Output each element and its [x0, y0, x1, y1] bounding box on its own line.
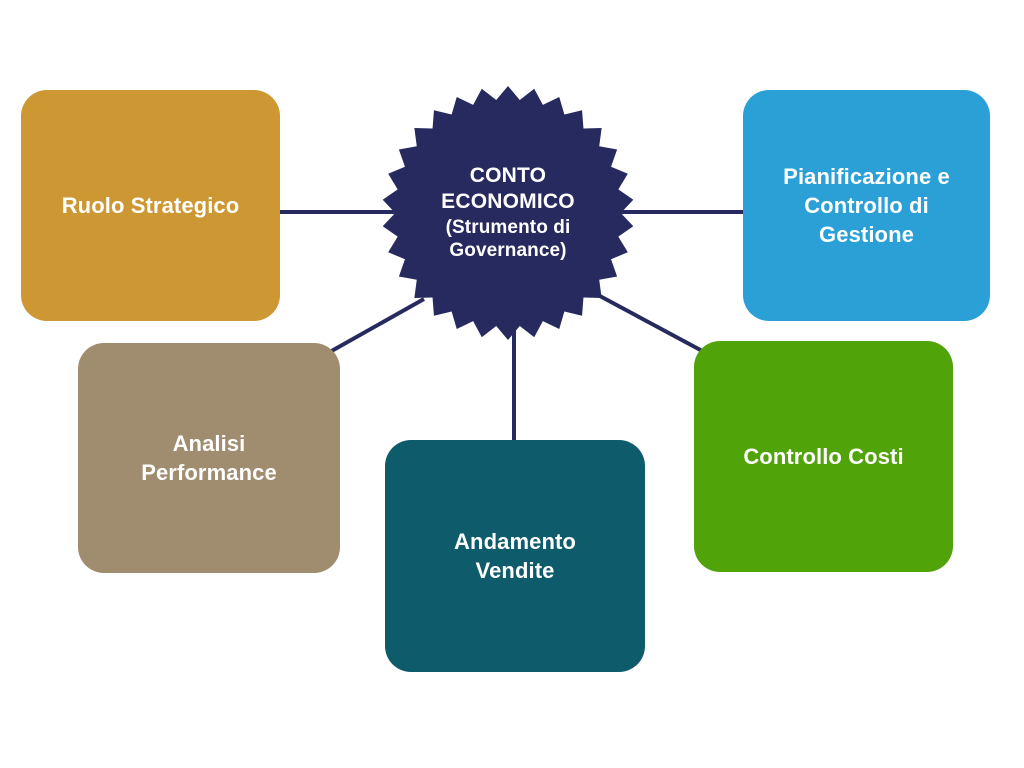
node-ruolo-strategico-label: Ruolo Strategico [62, 191, 240, 220]
hub-line-strumento: (Strumento di [446, 216, 571, 240]
hub-conto-economico[interactable]: CONTO ECONOMICO (Strumento di Governance… [382, 86, 634, 340]
hub-line-economico: ECONOMICO [441, 189, 575, 215]
hub-line-governance: Governance) [449, 239, 566, 263]
node-ruolo-strategico[interactable]: Ruolo Strategico [21, 90, 280, 321]
hub-line-conto: CONTO [470, 163, 546, 189]
node-analisi-performance[interactable]: Analisi Performance [78, 343, 340, 573]
node-analisi-performance-label: Analisi Performance [141, 429, 277, 487]
node-pianificazione-controllo-gestione-label: Pianificazione e Controllo di Gestione [783, 162, 950, 249]
node-andamento-vendite[interactable]: Andamento Vendite [385, 440, 645, 672]
diagram-canvas: Ruolo Strategico Pianificazione e Contro… [0, 0, 1024, 768]
node-pianificazione-controllo-gestione[interactable]: Pianificazione e Controllo di Gestione [743, 90, 990, 321]
node-andamento-vendite-label: Andamento Vendite [454, 527, 576, 585]
node-controllo-costi[interactable]: Controllo Costi [694, 341, 953, 572]
node-controllo-costi-label: Controllo Costi [743, 442, 903, 471]
hub-text-block: CONTO ECONOMICO (Strumento di Governance… [382, 86, 634, 340]
